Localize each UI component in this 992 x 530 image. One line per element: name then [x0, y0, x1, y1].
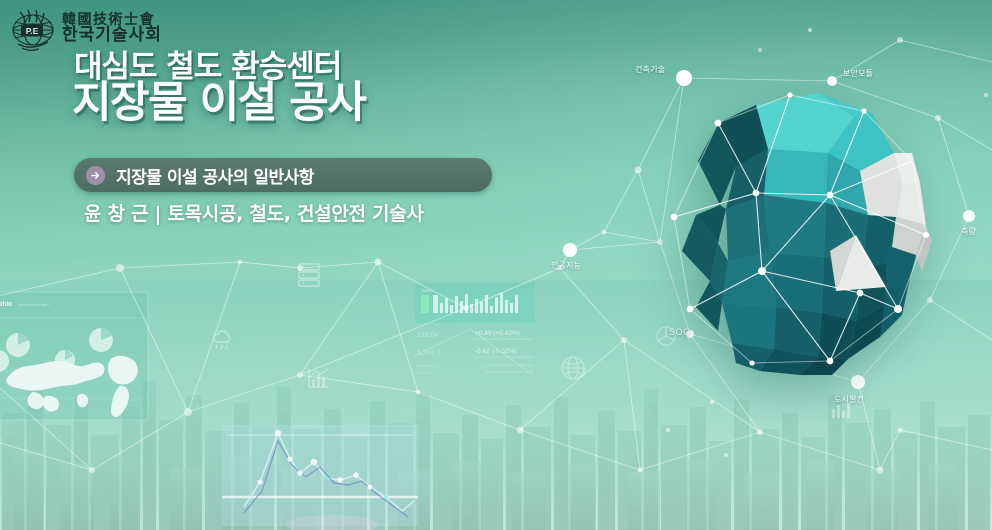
subtitle-pill: 지장물 이설 공사의 일반사항	[74, 158, 492, 192]
logo-hangul-text: 한국기술사회	[62, 27, 162, 45]
presentation-slide: Graphic visualization data	[0, 0, 992, 530]
node-label-construction-tech: 건축기술	[635, 64, 665, 75]
subtitle-text: 지장물 이설 공사의 일반사항	[116, 163, 314, 188]
organization-logo: P.E 韓國技術士會 한국기술사회	[8, 4, 162, 54]
svg-text:P.E: P.E	[26, 26, 39, 36]
node-label-surveying: 측량	[961, 226, 976, 237]
globe-pe-emblem: P.E	[8, 4, 58, 54]
title-block: 대심도 철도 환승센터 지장물 이설 공사	[74, 52, 544, 126]
low-poly-sphere	[640, 75, 950, 385]
arrow-right-circle-icon	[86, 166, 105, 185]
presenter-line: 윤 창 근 | 토목시공, 철도, 건설안전 기술사	[84, 199, 424, 226]
node-label-ai: 인공지능	[551, 260, 581, 271]
node-label-urban-development: 도시발전	[834, 394, 864, 405]
title-line-2: 지장물 이설 공사	[72, 80, 544, 126]
